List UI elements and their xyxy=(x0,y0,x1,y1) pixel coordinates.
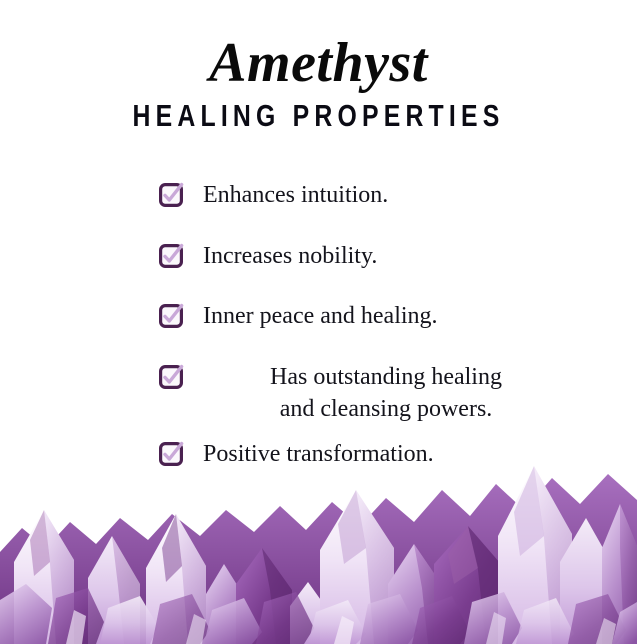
list-item: Has outstanding healing and cleansing po… xyxy=(159,362,579,425)
list-item-label: Increases nobility. xyxy=(183,241,579,273)
amethyst-healing-properties-poster: Amethyst HEALING PROPERTIES Enhances int… xyxy=(0,0,637,644)
checked-checkbox-icon xyxy=(159,442,183,466)
healing-properties-list: Enhances intuition. Increases nobility. … xyxy=(159,180,579,471)
list-item: Increases nobility. xyxy=(159,241,579,273)
list-item: Enhances intuition. xyxy=(159,180,579,212)
list-item-label: Has outstanding healing and cleansing po… xyxy=(183,362,579,425)
checked-checkbox-icon xyxy=(159,244,183,268)
checked-checkbox-icon xyxy=(159,183,183,207)
list-item-label: Enhances intuition. xyxy=(183,180,579,212)
page-subtitle: HEALING PROPERTIES xyxy=(64,93,574,133)
amethyst-crystal-cluster-image xyxy=(0,444,637,644)
checked-checkbox-icon xyxy=(159,365,183,389)
list-item: Inner peace and healing. xyxy=(159,301,579,333)
poster-header: Amethyst HEALING PROPERTIES xyxy=(0,0,637,133)
list-item-label: Inner peace and healing. xyxy=(183,301,579,333)
page-title: Amethyst xyxy=(0,0,637,93)
list-item: Positive transformation. xyxy=(159,439,579,471)
list-item-label: Positive transformation. xyxy=(183,439,579,471)
checked-checkbox-icon xyxy=(159,304,183,328)
